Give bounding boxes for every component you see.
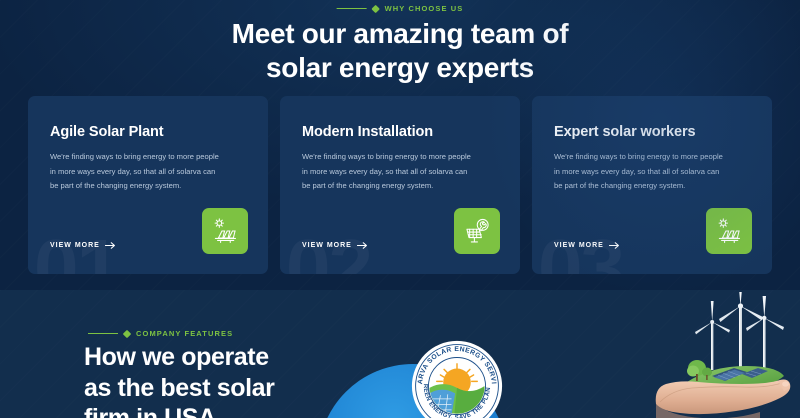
feature-card[interactable]: 01 Agile Solar Plant We're finding ways … <box>28 96 268 274</box>
company-features-title-line-3: firm in USA <box>84 404 216 418</box>
company-features-title-line-2: as the best solar <box>84 374 275 402</box>
card-title: Agile Solar Plant <box>50 124 246 140</box>
feature-card[interactable]: 02 Modern Installation We're finding way… <box>280 96 520 274</box>
company-features-eyebrow: COMPANY FEATURES <box>88 329 233 338</box>
arrow-right-icon <box>357 241 368 250</box>
eyebrow-diamond-icon <box>123 329 131 337</box>
company-features-eyebrow-label: COMPANY FEATURES <box>136 329 233 338</box>
view-more-label: VIEW MORE <box>50 242 100 249</box>
arrow-right-icon <box>609 241 620 250</box>
why-choose-us-eyebrow: WHY CHOOSE US <box>337 4 464 13</box>
solar-panel-sun-icon <box>211 217 239 245</box>
eyebrow-diamond-icon <box>371 4 379 12</box>
card-body-text: We're finding ways to bring energy to mo… <box>554 150 726 194</box>
eyebrow-line-icon <box>88 333 118 334</box>
card-watermark-number: 03 <box>538 228 623 274</box>
page-title-line-1: Meet our amazing team of <box>232 18 569 49</box>
card-watermark-number: 01 <box>34 228 119 274</box>
card-title: Modern Installation <box>302 124 498 140</box>
eyebrow-line-icon <box>337 8 367 9</box>
card-icon-tile <box>706 208 752 254</box>
feature-card[interactable]: 03 Expert solar workers We're finding wa… <box>532 96 772 274</box>
card-title: Expert solar workers <box>554 124 750 140</box>
why-choose-us-section: WHY CHOOSE US Meet our amazing team of s… <box>0 0 800 290</box>
card-icon-tile <box>454 208 500 254</box>
view-more-link[interactable]: VIEW MORE <box>50 241 116 250</box>
feature-card-list: 01 Agile Solar Plant We're finding ways … <box>28 96 772 274</box>
solar-panel-sun-icon <box>715 217 743 245</box>
solarva-seal-badge: SOLARVA SOLAR ENERGY SERVICES GREEN ENER… <box>411 340 503 418</box>
arrow-right-icon <box>105 241 116 250</box>
page-root: WHY CHOOSE US Meet our amazing team of s… <box>0 0 800 418</box>
card-body-text: We're finding ways to bring energy to mo… <box>50 150 222 194</box>
solar-panel-wrench-icon <box>463 217 491 245</box>
company-features-title-line-1: How we operate <box>84 343 269 371</box>
card-icon-tile <box>202 208 248 254</box>
company-features-title: How we operate as the best solar firm in… <box>84 342 344 418</box>
why-choose-us-eyebrow-label: WHY CHOOSE US <box>385 4 464 13</box>
page-title: Meet our amazing team of solar energy ex… <box>0 17 800 85</box>
hand-holding-renewable-energy-image <box>650 292 800 418</box>
view-more-label: VIEW MORE <box>302 242 352 249</box>
view-more-label: VIEW MORE <box>554 242 604 249</box>
view-more-link[interactable]: VIEW MORE <box>554 241 620 250</box>
view-more-link[interactable]: VIEW MORE <box>302 241 368 250</box>
card-watermark-number: 02 <box>286 228 371 274</box>
card-body-text: We're finding ways to bring energy to mo… <box>302 150 474 194</box>
page-title-line-2: solar energy experts <box>266 52 534 83</box>
